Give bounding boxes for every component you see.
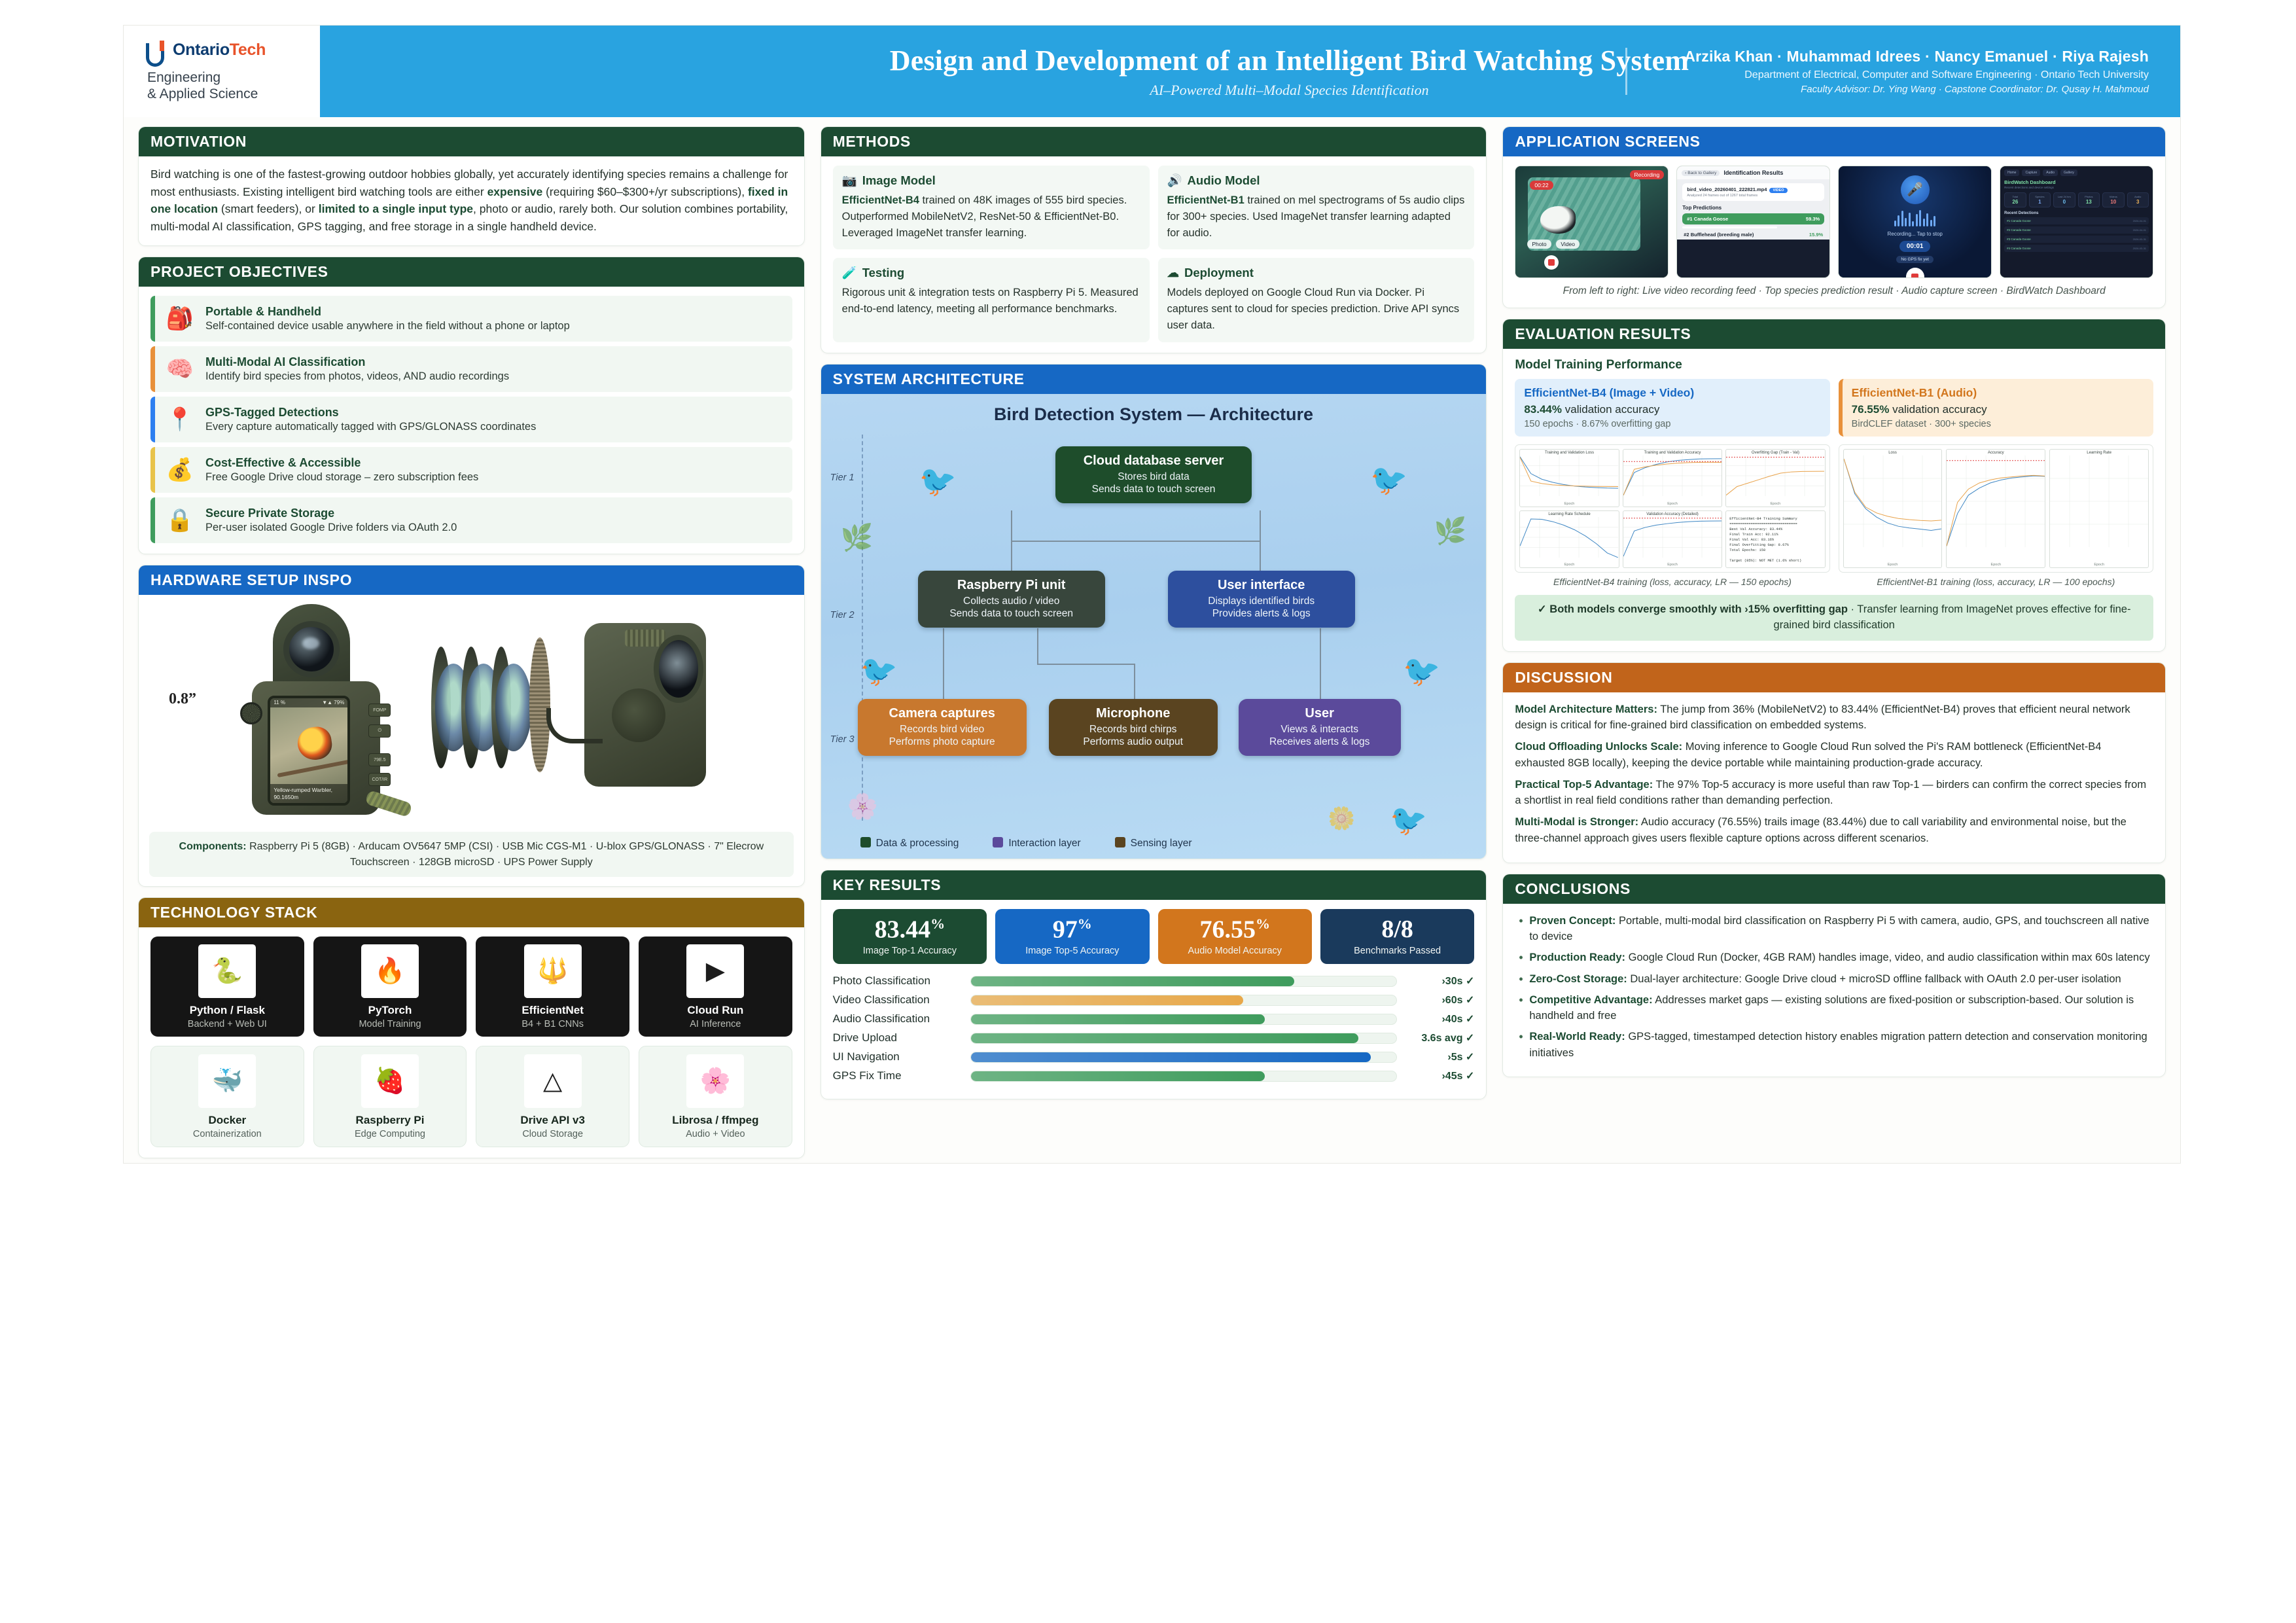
- dashboard-kpi: Total26: [2004, 192, 2026, 207]
- objective-desc: Every capture automatically tagged with …: [205, 421, 536, 433]
- tech-sub: B4 + B1 CNNs: [480, 1019, 626, 1029]
- motivation-heading: MOTIVATION: [139, 127, 804, 156]
- node-camera-captures: Camera captures Records bird video Perfo…: [858, 699, 1027, 757]
- stat-label: Benchmarks Passed: [1324, 946, 1470, 956]
- motivation-card: MOTIVATION Bird watching is one of the f…: [138, 126, 805, 246]
- app-screens-heading: APPLICATION SCREENS: [1503, 127, 2165, 156]
- chart-title: Training and Validation Loss: [1520, 451, 1618, 455]
- objective-title: Secure Private Storage: [205, 507, 334, 520]
- ontario-tech-logo-mark: [146, 41, 168, 68]
- chart-panel: Overfitting Gap (Train - Val) Epoch: [1725, 449, 1825, 507]
- method-item: 🔊Audio Model EfficientNet-B1 trained on …: [1158, 166, 1475, 249]
- objective-item: 📍 GPS-Tagged Detections Every capture au…: [150, 397, 792, 442]
- left-column: MOTIVATION Bird watching is one of the f…: [138, 126, 805, 1158]
- frames-analyzed-meta: Analyzed 24 frames out of 1267 total fra…: [1687, 194, 1820, 198]
- bird-illustration-1: 🐦: [919, 466, 957, 496]
- logo-faculty-line2: & Applied Science: [147, 86, 320, 103]
- components-label: Components:: [179, 841, 247, 852]
- chart-title: Accuracy: [1947, 451, 2045, 455]
- chart-panel: Training and Validation Loss Epoch: [1519, 449, 1619, 507]
- techstack-card: TECHNOLOGY STACK 🐍 Python / Flask Backen…: [138, 897, 805, 1158]
- objective-desc: Free Google Drive cloud storage – zero s…: [205, 471, 478, 484]
- method-body: Rigorous unit & integration tests on Ras…: [842, 285, 1140, 317]
- conclusions-card: CONCLUSIONS Proven Concept: Portable, mu…: [1502, 874, 2166, 1077]
- python-flask-icon: 🐍: [198, 944, 256, 998]
- dashboard-tab[interactable]: Gallery: [2060, 169, 2077, 176]
- methods-heading: METHODS: [821, 127, 1487, 156]
- components-text: Raspberry Pi 5 (8GB) · Arducam OV5647 5M…: [249, 841, 764, 867]
- tech-sub: Audio + Video: [643, 1129, 788, 1139]
- objectives-heading: PROJECT OBJECTIVES: [139, 257, 804, 287]
- discussion-item: Model Architecture Matters: The jump fro…: [1515, 702, 2153, 734]
- handheld-device-front: 11 % ▼▲ 79% Yellow-rumped Warbler, 90.16…: [236, 604, 400, 815]
- node-user-interface: User interface Displays identified birds…: [1168, 571, 1355, 628]
- evaluation-callout: ✓ Both models converge smoothly with ›15…: [1515, 595, 2153, 641]
- benchmark-row: GPS Fix Time ›45s ✓: [833, 1069, 1475, 1082]
- discussion-item: Multi-Modal is Stronger: Audio accuracy …: [1515, 814, 2153, 846]
- objective-item: 💰 Cost-Effective & Accessible Free Googl…: [150, 447, 792, 493]
- evaluation-subtitle: Model Training Performance: [1515, 358, 2153, 372]
- cloud-run-icon: ▶: [686, 944, 744, 998]
- objective-title: Multi-Modal AI Classification: [205, 355, 365, 368]
- objective-desc: Identify bird species from photos, video…: [205, 370, 509, 383]
- chart-title: Learning Rate Schedule: [1520, 512, 1618, 516]
- tech-name: EfficientNet: [480, 1004, 626, 1017]
- recording-badge: Recording: [1630, 170, 1665, 179]
- benchmark-track: [970, 995, 1398, 1006]
- discussion-item: Practical Top-5 Advantage: The 97% Top-5…: [1515, 777, 2153, 809]
- handheld-device-side: [431, 618, 706, 801]
- benchmark-bars: Photo Classification ›30s ✓ Video Classi…: [833, 974, 1475, 1082]
- flower-illustration-2: 🌼: [1328, 808, 1355, 830]
- diagram-legend: Data & processing Interaction layer Sens…: [860, 837, 1192, 849]
- chart-title: Validation Accuracy (Detailed): [1623, 512, 1722, 516]
- tech-item: ▶ Cloud Run AI Inference: [639, 936, 792, 1037]
- chart-xlabel: Epoch: [1844, 563, 1942, 567]
- benchmark-label: Audio Classification: [833, 1012, 961, 1026]
- conclusion-item: Proven Concept: Portable, multi-modal bi…: [1515, 913, 2153, 945]
- model-summary-cards: EfficientNet-B4 (Image + Video) 83.44% v…: [1515, 379, 2153, 437]
- conclusions-heading: CONCLUSIONS: [1503, 874, 2165, 904]
- conclusions-list: Proven Concept: Portable, multi-modal bi…: [1515, 913, 2153, 1061]
- record-timer: 00:22: [1530, 181, 1553, 190]
- bird-illustration-5: 🐦: [1390, 805, 1427, 835]
- legend-item: Sensing layer: [1115, 837, 1192, 849]
- objective-title: Cost-Effective & Accessible: [205, 456, 361, 469]
- device-button-mode[interactable]: 79E.5: [368, 753, 391, 766]
- b1-plot-caption: EfficientNet-B1 training (loss, accuracy…: [1839, 577, 2153, 587]
- app-screenshot-audio-capture: 🎤 Recording... Tap to stop 00:01 No GPS …: [1838, 166, 1992, 278]
- benchmark-value: 3.6s avg ✓: [1406, 1031, 1474, 1044]
- hardware-photo: 0.8” 11 % ▼▲ 79%: [139, 595, 804, 824]
- audio-record-timer: 00:01: [1899, 241, 1931, 252]
- benchmark-fill: [971, 1033, 1358, 1043]
- benchmark-track: [970, 1071, 1398, 1082]
- tech-item: 🔥 PyTorch Model Training: [313, 936, 467, 1037]
- chart-title: Overfitting Gap (Train - Val): [1726, 451, 1824, 455]
- detection-row[interactable]: #1 Canada Goose2026-04-01: [2004, 217, 2149, 224]
- method-item: 🧪Testing Rigorous unit & integration tes…: [833, 258, 1150, 342]
- objective-item: 🧠 Multi-Modal AI Classification Identify…: [150, 346, 792, 392]
- chart-xlabel: Epoch: [1947, 563, 2045, 567]
- dashboard-kpis: Total26Species1Last 24 hrs0Photos13Video…: [2004, 192, 2149, 207]
- methods-grid: 📷Image Model EfficientNet-B4 trained on …: [833, 166, 1475, 342]
- google-drive-icon: △: [524, 1054, 582, 1108]
- prediction-1-name: #1 Canada Goose: [1687, 216, 1728, 222]
- stat-value: 76.55%: [1162, 917, 1308, 942]
- conclusion-item: Production Ready: Google Cloud Run (Dock…: [1515, 950, 2153, 965]
- app-screenshot-row: Recording 00:22 Photo Video ‹ Back to Ga…: [1515, 166, 2153, 278]
- test-tube-icon: 🧪: [842, 266, 857, 280]
- dashboard-subtitle: Recent detections and device settings: [2004, 186, 2149, 189]
- benchmark-track: [970, 1052, 1398, 1063]
- key-stats-row: 83.44% Image Top-1 Accuracy 97% Image To…: [833, 909, 1475, 965]
- tech-item: △ Drive API v3 Cloud Storage: [476, 1046, 629, 1147]
- cloud-icon: ☁: [1167, 266, 1180, 280]
- author-block: Arzika Khan · Muhammad Idrees · Nancy Em…: [1625, 48, 2149, 95]
- flower-illustration-1: 🌸: [847, 794, 878, 819]
- detected-coords-label: 90.1650m: [274, 794, 344, 801]
- discussion-card: DISCUSSION Model Architecture Matters: T…: [1502, 662, 2166, 863]
- node-cloud-database-server: Cloud database server Stores bird data S…: [1055, 446, 1252, 504]
- key-stat: 8/8 Benchmarks Passed: [1320, 909, 1474, 965]
- techstack-heading: TECHNOLOGY STACK: [139, 898, 804, 927]
- app-screenshot-dashboard: HomeCaptureAudioGallery BirdWatch Dashbo…: [2000, 166, 2153, 278]
- video-mode-button[interactable]: Video: [1556, 240, 1580, 249]
- screen-status-right: ▼▲ 79%: [322, 700, 344, 707]
- tech-sub: AI Inference: [643, 1019, 788, 1029]
- chart-xlabel: Epoch: [1623, 502, 1722, 506]
- tier-2-label: Tier 2: [830, 610, 855, 620]
- benchmark-value: ›30s ✓: [1406, 974, 1474, 988]
- benchmark-label: Photo Classification: [833, 974, 961, 988]
- stat-label: Image Top-1 Accuracy: [837, 946, 983, 956]
- dashboard-tab[interactable]: Capture: [2022, 169, 2040, 176]
- detected-species-label: Yellow-rumped Warbler,: [274, 787, 344, 794]
- stat-label: Image Top-5 Accuracy: [999, 946, 1145, 956]
- key-stat: 76.55% Audio Model Accuracy: [1158, 909, 1312, 965]
- backpack-icon: 🎒: [163, 302, 197, 336]
- author-list: Arzika Khan · Muhammad Idrees · Nancy Em…: [1642, 48, 2149, 65]
- benchmark-value: ›45s ✓: [1406, 1069, 1474, 1082]
- app-screenshot-predictions: ‹ Back to Gallery Identification Results…: [1676, 166, 1830, 278]
- photo-mode-button[interactable]: Photo: [1527, 240, 1551, 249]
- docker-icon: 🐳: [198, 1054, 256, 1108]
- benchmark-row: Audio Classification ›40s ✓: [833, 1012, 1475, 1026]
- benchmark-track: [970, 1014, 1398, 1025]
- node-user: User Views & interacts Receives alerts &…: [1239, 699, 1401, 757]
- benchmark-row: Video Classification ›60s ✓: [833, 993, 1475, 1007]
- recent-detections-label: Recent Detections: [2004, 211, 2149, 215]
- chart-panel: Training and Validation Accuracy Epoch: [1623, 449, 1722, 507]
- detection-row[interactable]: #4 Canada Goose2026-03-31: [2004, 245, 2149, 252]
- b4-training-summary: EfficientNet-B4 Training Summary =======…: [1725, 510, 1825, 569]
- money-bag-icon: 💰: [163, 453, 197, 487]
- prediction-2-name: #2 Bufflehead (breeding male): [1684, 232, 1754, 238]
- b4-plot-caption: EfficientNet-B4 training (loss, accuracy…: [1515, 577, 1829, 587]
- header-banner: Design and Development of an Intelligent…: [320, 26, 2180, 117]
- method-title: Image Model: [862, 173, 936, 188]
- logo-faculty-line1: Engineering: [147, 70, 320, 86]
- b4-plot-grid: Training and Validation Loss Epoch Train…: [1515, 444, 1829, 573]
- benchmark-label: Video Classification: [833, 993, 961, 1007]
- discussion-body: Model Architecture Matters: The jump fro…: [1503, 692, 2165, 863]
- key-stat: 97% Image Top-5 Accuracy: [995, 909, 1149, 965]
- pytorch-icon: 🔥: [361, 944, 419, 998]
- tech-sub: Containerization: [155, 1129, 300, 1139]
- benchmark-fill: [971, 1014, 1265, 1024]
- chart-xlabel: Epoch: [1520, 502, 1618, 506]
- ai-chip-icon: 🧠: [163, 352, 197, 386]
- model-card-b4: EfficientNet-B4 (Image + Video) 83.44% v…: [1515, 379, 1829, 437]
- discussion-heading: DISCUSSION: [1503, 663, 2165, 692]
- chart-panel: Accuracy Epoch: [1946, 449, 2045, 568]
- benchmark-row: Drive Upload 3.6s avg ✓: [833, 1031, 1475, 1044]
- leaf-illustration-2: 🌿: [1434, 518, 1467, 544]
- detection-row[interactable]: #2 Canada Goose2026-04-01: [2004, 226, 2149, 234]
- architecture-diagram: Bird Detection System — Architecture Tie…: [821, 394, 1487, 859]
- tech-sub: Model Training: [317, 1019, 463, 1029]
- objective-title: Portable & Handheld: [205, 305, 321, 318]
- device-size-label: 0.8”: [169, 690, 196, 708]
- key-results-card: KEY RESULTS 83.44% Image Top-1 Accuracy …: [821, 870, 1487, 1100]
- benchmark-fill: [971, 1071, 1265, 1081]
- dashboard-kpi: Species1: [2029, 192, 2051, 207]
- conclusion-item: Real-World Ready: GPS-tagged, timestampe…: [1515, 1029, 2153, 1061]
- method-item: 📷Image Model EfficientNet-B4 trained on …: [833, 166, 1150, 249]
- tech-sub: Edge Computing: [318, 1129, 463, 1139]
- tech-item: 🍓 Raspberry Pi Edge Computing: [313, 1046, 467, 1147]
- benchmark-label: UI Navigation: [833, 1050, 961, 1063]
- device-button-fomp[interactable]: FOMP: [368, 704, 391, 717]
- poster-header: OntarioTech Engineering & Applied Scienc…: [124, 26, 2180, 117]
- tech-item: 🔱 EfficientNet B4 + B1 CNNs: [476, 936, 629, 1037]
- benchmark-fill: [971, 995, 1243, 1005]
- method-item: ☁Deployment Models deployed on Google Cl…: [1158, 258, 1475, 342]
- stat-label: Audio Model Accuracy: [1162, 946, 1308, 956]
- chart-panel: Learning Rate Schedule Epoch: [1519, 510, 1619, 569]
- tech-sub: Cloud Storage: [480, 1129, 625, 1139]
- key-stat: 83.44% Image Top-1 Accuracy: [833, 909, 987, 965]
- objectives-list: 🎒 Portable & Handheld Self-contained dev…: [150, 296, 792, 543]
- objective-desc: Per-user isolated Google Drive folders v…: [205, 522, 457, 534]
- conclusion-item: Zero-Cost Storage: Dual-layer architectu…: [1515, 971, 2153, 987]
- chart-panel: Loss Epoch: [1843, 449, 1943, 568]
- stat-value: 83.44%: [837, 917, 983, 942]
- right-column: APPLICATION SCREENS Recording 00:22 Phot…: [1502, 126, 2166, 1077]
- affiliation: Department of Electrical, Computer and S…: [1642, 69, 2149, 81]
- stat-value: 8/8: [1324, 917, 1470, 942]
- speaker-icon: 🔊: [1167, 173, 1182, 188]
- wrist-strap: [365, 790, 413, 818]
- method-body: Models deployed on Google Cloud Run via …: [1167, 285, 1466, 333]
- university-logo: OntarioTech Engineering & Applied Scienc…: [124, 26, 320, 117]
- stop-recording-button[interactable]: [1906, 268, 1924, 278]
- model-card-b1: EfficientNet-B1 (Audio) 76.55% validatio…: [1839, 379, 2153, 437]
- hardware-heading: HARDWARE SETUP INSPO: [139, 565, 804, 595]
- poster-canvas: OntarioTech Engineering & Applied Scienc…: [123, 25, 2181, 1164]
- logo-tech-text: Tech: [230, 41, 266, 59]
- benchmark-fill: [971, 976, 1295, 986]
- architecture-heading: SYSTEM ARCHITECTURE: [821, 365, 1487, 394]
- method-title: Audio Model: [1188, 173, 1260, 188]
- benchmark-row: Photo Classification ›30s ✓: [833, 974, 1475, 988]
- raspberry-pi-icon: 🍓: [361, 1054, 419, 1108]
- objective-item: 🔒 Secure Private Storage Per-user isolat…: [150, 497, 792, 543]
- app-screens-card: APPLICATION SCREENS Recording 00:22 Phot…: [1502, 126, 2166, 308]
- tech-name: Librosa / ffmpeg: [643, 1114, 788, 1127]
- librosa-icon: 🌸: [686, 1054, 744, 1108]
- evaluation-heading: EVALUATION RESULTS: [1503, 319, 2165, 349]
- middle-column: METHODS 📷Image Model EfficientNet-B4 tra…: [821, 126, 1487, 1099]
- chart-xlabel: Epoch: [2050, 563, 2148, 567]
- dashboard-kpi: Audio3: [2127, 192, 2149, 207]
- method-body: EfficientNet-B4 trained on 48K images of…: [842, 192, 1140, 241]
- tech-name: Raspberry Pi: [318, 1114, 463, 1127]
- app-screens-caption: From left to right: Live video recording…: [1515, 285, 2153, 297]
- components-list: Components: Raspberry Pi 5 (8GB) · Arduc…: [149, 832, 794, 876]
- bird-illustration-4: 🐦: [1403, 656, 1440, 686]
- method-body: EfficientNet-B1 trained on mel spectrogr…: [1167, 192, 1466, 241]
- objective-item: 🎒 Portable & Handheld Self-contained dev…: [150, 296, 792, 342]
- methods-card: METHODS 📷Image Model EfficientNet-B4 tra…: [821, 126, 1487, 353]
- legend-item: Data & processing: [860, 837, 959, 849]
- objective-desc: Self-contained device usable anywhere in…: [205, 320, 570, 332]
- hardware-card: HARDWARE SETUP INSPO 0.8” 11 % ▼▲ 79%: [138, 565, 805, 886]
- device-touchscreen: 11 % ▼▲ 79% Yellow-rumped Warbler, 90.16…: [268, 696, 350, 806]
- gps-status-badge: No GPS fix yet: [1896, 256, 1934, 263]
- chart-title: Loss: [1844, 451, 1942, 455]
- leaf-illustration-1: 🌿: [841, 525, 874, 551]
- conclusion-item: Competitive Advantage: Addresses market …: [1515, 992, 2153, 1024]
- tech-name: Python / Flask: [154, 1004, 300, 1017]
- dashboard-title: BirdWatch Dashboard: [2004, 179, 2149, 185]
- dashboard-kpi: Videos10: [2102, 192, 2124, 207]
- chart-xlabel: Epoch: [1623, 563, 1722, 567]
- node-raspberry-pi-unit: Raspberry Pi unit Collects audio / video…: [918, 571, 1105, 628]
- method-title: Testing: [862, 266, 904, 280]
- top-predictions-label: Top Predictions: [1682, 205, 1829, 211]
- tech-name: Drive API v3: [480, 1114, 625, 1127]
- tier-1-label: Tier 1: [830, 473, 855, 483]
- identification-results-title: Identification Results: [1723, 169, 1783, 176]
- dashboard-tab[interactable]: Audio: [2043, 169, 2058, 176]
- prediction-2-pct: 15.9%: [1809, 232, 1823, 238]
- b1-plot-grid: Loss Epoch Accuracy Epoch Learning Rate …: [1839, 444, 2153, 573]
- legend-item: Interaction layer: [993, 837, 1080, 849]
- lock-icon: 🔒: [163, 503, 197, 537]
- back-to-gallery-button[interactable]: ‹ Back to Gallery: [1682, 170, 1720, 176]
- motivation-text: Bird watching is one of the fastest-grow…: [150, 166, 792, 235]
- benchmark-value: ›40s ✓: [1406, 1012, 1474, 1026]
- dashboard-kpi: Photos13: [2078, 192, 2100, 207]
- benchmark-label: Drive Upload: [833, 1031, 961, 1044]
- chart-xlabel: Epoch: [1520, 563, 1618, 567]
- benchmark-value: ›5s ✓: [1406, 1050, 1474, 1063]
- training-plots: Training and Validation Loss Epoch Train…: [1515, 444, 2153, 587]
- node-microphone: Microphone Records bird chirps Performs …: [1049, 699, 1218, 757]
- detection-row[interactable]: #3 Canada Goose2026-03-31: [2004, 236, 2149, 243]
- video-badge: VIDEO: [1769, 188, 1787, 193]
- techstack-grid: 🐍 Python / Flask Backend + Web UI 🔥 PyTo…: [150, 936, 792, 1147]
- benchmark-label: GPS Fix Time: [833, 1069, 961, 1082]
- benchmark-track: [970, 976, 1398, 987]
- device-button-power[interactable]: ⏻: [368, 724, 391, 738]
- objectives-card: PROJECT OBJECTIVES 🎒 Portable & Handheld…: [138, 257, 805, 554]
- screen-status-left: 11 %: [274, 700, 285, 707]
- logo-ontario-text: Ontario: [173, 41, 230, 59]
- efficientnet-icon: 🔱: [524, 944, 582, 998]
- objective-title: GPS-Tagged Detections: [205, 406, 339, 419]
- evaluation-card: EVALUATION RESULTS Model Training Perfor…: [1502, 319, 2166, 652]
- camera-icon: 📷: [842, 173, 857, 188]
- chart-panel: Validation Accuracy (Detailed) Epoch: [1623, 510, 1722, 569]
- prediction-1-pct: 59.3%: [1806, 216, 1820, 222]
- bird-photo: [296, 725, 334, 762]
- method-title: Deployment: [1184, 266, 1254, 280]
- bird-illustration-3: 🐦: [860, 656, 898, 686]
- tech-item: 🐳 Docker Containerization: [150, 1046, 304, 1147]
- chart-title: Learning Rate: [2050, 451, 2148, 455]
- chart-xlabel: Epoch: [1726, 502, 1824, 506]
- tech-name: PyTorch: [317, 1004, 463, 1017]
- benchmark-track: [970, 1033, 1398, 1044]
- analyzed-filename: bird_video_20260401_222821.mp4: [1687, 187, 1767, 192]
- chart-panel: Learning Rate Epoch: [2049, 449, 2149, 568]
- tech-name: Cloud Run: [643, 1004, 788, 1017]
- tier-3-label: Tier 3: [830, 734, 855, 745]
- tech-item: 🌸 Librosa / ffmpeg Audio + Video: [639, 1046, 792, 1147]
- dashboard-tabs[interactable]: HomeCaptureAudioGallery: [2004, 169, 2149, 176]
- app-screenshot-live-video: Recording 00:22 Photo Video: [1515, 166, 1669, 278]
- benchmark-fill: [971, 1052, 1371, 1062]
- waveform-visual: [1839, 209, 1991, 226]
- advisor-line: Faculty Advisor: Dr. Ying Wang · Capston…: [1642, 84, 2149, 95]
- benchmark-value: ›60s ✓: [1406, 993, 1474, 1007]
- architecture-card: SYSTEM ARCHITECTURE Bird Detection Syste…: [821, 364, 1487, 859]
- benchmark-row: UI Navigation ›5s ✓: [833, 1050, 1475, 1063]
- tech-sub: Backend + Web UI: [154, 1019, 300, 1029]
- microphone-icon: 🎤: [1901, 175, 1930, 204]
- tech-item: 🐍 Python / Flask Backend + Web UI: [150, 936, 304, 1037]
- diagram-title: Bird Detection System — Architecture: [821, 394, 1487, 425]
- device-button-ir[interactable]: COT/IR: [368, 773, 391, 786]
- chart-title: Training and Validation Accuracy: [1623, 451, 1722, 455]
- dashboard-tab[interactable]: Home: [2004, 169, 2019, 176]
- dashboard-kpi: Last 24 hrs0: [2053, 192, 2075, 207]
- key-results-heading: KEY RESULTS: [821, 870, 1487, 900]
- stat-value: 97%: [999, 917, 1145, 942]
- recording-status-text: Recording... Tap to stop: [1839, 231, 1991, 237]
- discussion-item: Cloud Offloading Unlocks Scale: Moving i…: [1515, 739, 2153, 771]
- tech-name: Docker: [155, 1114, 300, 1127]
- bird-illustration-2: 🐦: [1370, 465, 1407, 495]
- map-pin-icon: 📍: [163, 402, 197, 437]
